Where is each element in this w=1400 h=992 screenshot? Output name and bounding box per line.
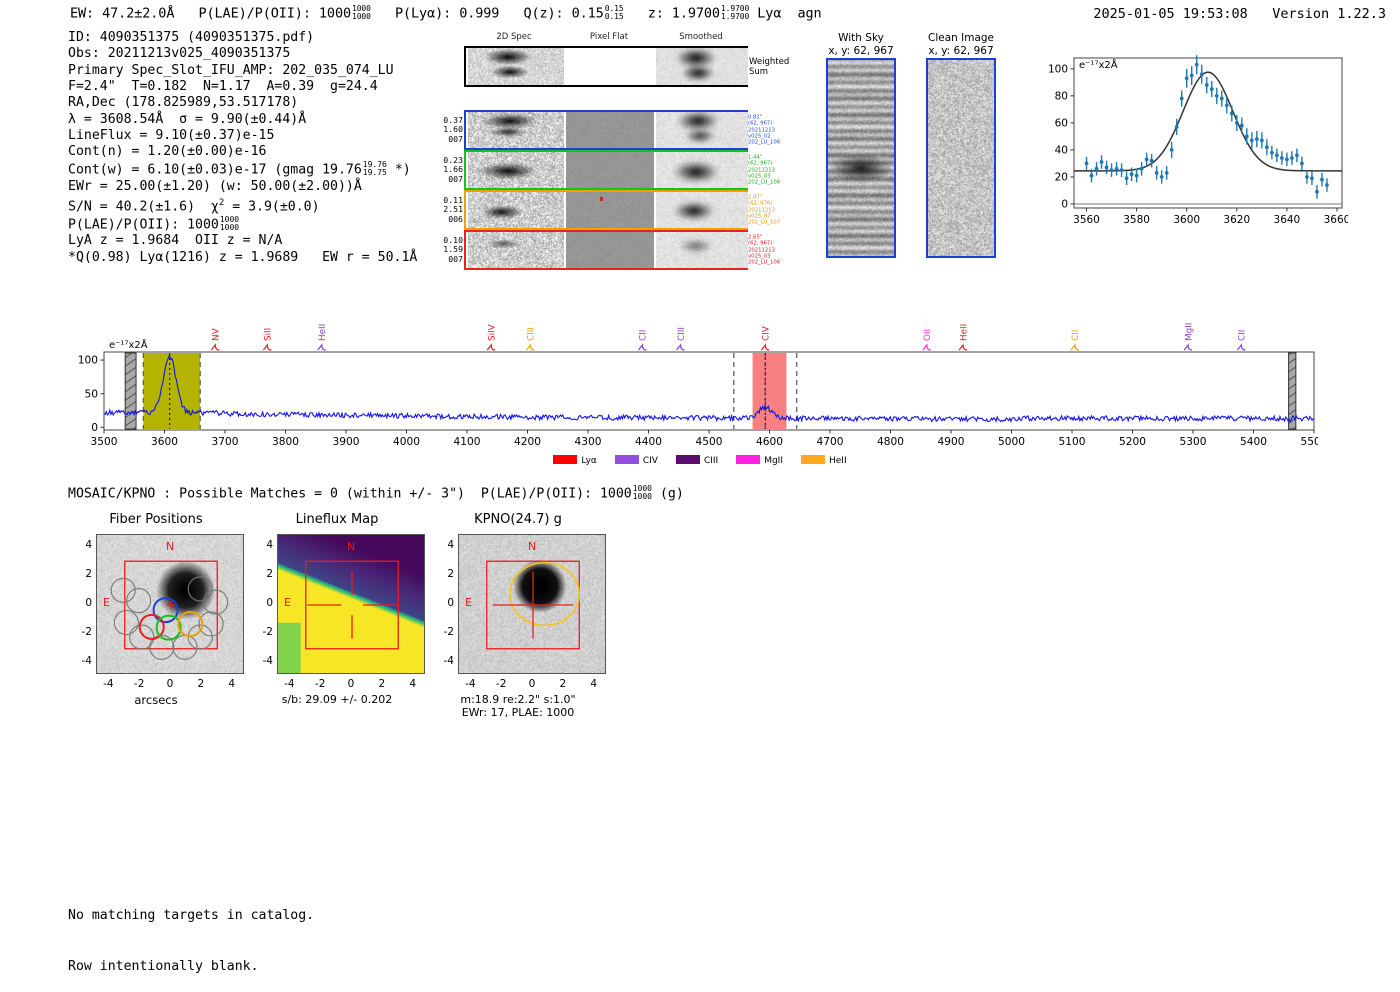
legend-item: HeII [801,455,847,466]
header-ew: EW: 47.2±2.0Å [70,5,174,21]
y-tick: 0 [70,597,92,609]
version-label: Version 1.22.3 [1272,6,1386,22]
emission-line-label: HeII [959,324,969,341]
north-label: N [528,540,536,553]
svg-text:50: 50 [85,388,99,400]
svg-text:4000: 4000 [393,436,420,448]
svg-text:5400: 5400 [1240,436,1267,448]
svg-text:4700: 4700 [817,436,844,448]
fiber-pixelflat [566,152,654,188]
x-tick: -2 [492,678,510,690]
y-tick: 2 [251,568,273,580]
legend-swatch [801,455,825,464]
legend-label: CIII [704,456,718,466]
emission-line-label: CII [1238,330,1248,341]
emission-line-label: SiIV [487,324,497,341]
svg-text:3660: 3660 [1324,214,1348,226]
header-z-tail: Lyα [757,5,781,21]
footer-note: No matching targets in catalog. Row inte… [68,873,314,992]
fiber-smoothed [656,232,748,268]
svg-text:4600: 4600 [756,436,783,448]
east-label: E [284,596,291,609]
mosaic-match-line: MOSAIC/KPNO : Possible Matches = 0 (with… [68,485,684,501]
fiber-row[interactable]: 0.37 1.60 0070.81" (62, 967) 20211213 v0… [464,110,748,150]
info-redshifts: LyA z = 1.9684 OII z = N/A [68,233,417,249]
gmag-range: 19.7619.75 [363,161,387,177]
x-tick: 4 [404,678,422,690]
svg-text:5500: 5500 [1301,436,1318,448]
y-tick: -2 [70,626,92,638]
svg-text:5000: 5000 [998,436,1025,448]
source-info-block: ID: 4090351375 (4090351375.pdf) Obs: 202… [68,30,417,266]
header-timestamp-version: 2025-01-05 19:53:08 Version 1.22.3 [1093,6,1386,22]
cutout-clean-image[interactable] [926,58,996,258]
svg-text:3500: 3500 [91,436,118,448]
svg-text:3700: 3700 [212,436,239,448]
svg-text:4100: 4100 [454,436,481,448]
svg-text:5300: 5300 [1180,436,1207,448]
x-tick: 0 [161,678,179,690]
column-header-pixelflat: Pixel Flat [564,32,654,42]
info-obs: Obs: 20211213v025_4090351375 [68,46,417,62]
y-tick: 0 [432,597,454,609]
x-tick: 4 [223,678,241,690]
info-lambda-sigma: λ = 3608.54Å σ = 9.90(±0.44)Å [68,112,417,128]
emission-line-label: NV [212,328,222,341]
legend-swatch [736,455,760,464]
svg-text:3800: 3800 [272,436,299,448]
info-ewr: EWr = 25.00(±1.20) (w: 50.00(±2.00))Å [68,179,417,195]
svg-text:80: 80 [1055,90,1068,102]
y-tick: -2 [432,626,454,638]
fiber-pixelflat [566,192,654,228]
info-seeing: F=2.4" T=0.182 N=1.17 A=0.39 g=24.4 [68,79,417,95]
emission-line-label: CIV [761,326,771,341]
info-cont-n: Cont(n) = 1.20(±0.00)e-16 [68,144,417,160]
kpno-caption-1: m:18.9 re:2.2" s:1.0" [400,693,636,707]
emission-line-label: CII [1071,330,1081,341]
svg-text:0: 0 [91,422,98,434]
lineflux-image[interactable] [277,534,425,674]
fiber-right-label: 1.44" (62, 967) 20211213 v025_03 202_LU_… [748,154,780,185]
info-plae-range: 10001000 [220,216,239,232]
legend-label: Lyα [581,456,596,466]
y-tick: 2 [70,568,92,580]
spectrum-unit-label: e⁻¹⁷x2Å [109,340,148,351]
legend-item: CIII [676,455,718,466]
y-tick: 4 [251,539,273,551]
header-qz-label: Q(z): 0.15 [523,5,603,21]
east-label: E [103,596,110,609]
header-classification: agn [797,5,821,21]
legend-swatch [553,455,577,464]
svg-text:40: 40 [1055,144,1068,156]
emission-line-label: OII [923,329,933,341]
header-z-label: z: 1.9700 [648,5,720,21]
cutout-with-sky-image[interactable] [826,58,896,258]
x-tick: 4 [585,678,603,690]
legend-swatch [676,455,700,464]
fiber-smoothed [656,152,748,188]
fiber-image[interactable] [96,534,244,674]
weighted-sum-2dspec [468,48,564,85]
svg-text:3560: 3560 [1073,214,1100,226]
pixel-flat-marker [600,197,603,201]
emission-line-label: CII [639,330,649,341]
fiber-2dspec [468,232,564,268]
info-plae: P(LAE)/P(OII): 100010001000 [68,216,417,234]
svg-text:3640: 3640 [1274,214,1301,226]
svg-text:4500: 4500 [696,436,723,448]
header-plya: P(Lyα): 0.999 [395,5,499,21]
north-label: N [166,540,174,553]
line-profile-chart: 356035803600362036403660020406080100e⁻¹⁷… [1034,44,1348,234]
y-tick: -4 [432,655,454,667]
legend-label: CIV [643,456,658,466]
full-spectrum-chart: 3500360037003800390040004100420043004400… [62,316,1318,452]
weighted-sum-row: Weighted Sum [464,46,748,87]
emission-line-label: HeII [318,324,328,341]
east-label: E [465,596,472,609]
svg-text:20: 20 [1055,172,1068,184]
svg-text:4800: 4800 [877,436,904,448]
svg-text:3620: 3620 [1223,214,1250,226]
fiber-row[interactable]: 0.23 1.66 0071.44" (62, 967) 20211213 v0… [464,150,748,190]
fiber-circle-inactive [188,577,212,601]
x-tick: -4 [280,678,298,690]
2d-spectrum-panel: 2D Spec Pixel Flat Smoothed Weighted Sum… [440,32,770,260]
fiber-smoothed [656,192,748,228]
cutout-coords: x, y: 62, 967 [906,45,1016,58]
fiber-left-label: 0.37 1.60 007 [443,116,463,144]
kpno-image[interactable] [458,534,606,674]
cutout-title: Clean Imagex, y: 62, 967 [906,32,1016,57]
svg-text:0: 0 [1061,199,1068,211]
x-tick: -4 [461,678,479,690]
cutout-name: With Sky [806,32,916,45]
x-tick: 0 [342,678,360,690]
lineflux-map-panel: Lineflux MapNE-4-4-2-2002244s/b: 29.09 +… [243,512,431,712]
line-profile-unit-label: e⁻¹⁷x2Å [1079,60,1118,71]
header-z-range: 1.97001.9700 [721,5,749,21]
x-tick: 2 [554,678,572,690]
column-header-smoothed: Smoothed [654,32,748,42]
x-tick: 0 [523,678,541,690]
fiber-2dspec [468,192,564,228]
y-tick: -4 [70,655,92,667]
fiber-circle-inactive [204,590,228,614]
fiber-2dspec [468,152,564,188]
x-tick: -2 [311,678,329,690]
x-tick: -4 [99,678,117,690]
fiber-row[interactable]: 0.10 1.59 0072.65" (62, 967) 20211213 v0… [464,230,748,270]
footer-line-1: No matching targets in catalog. [68,907,314,924]
svg-text:5100: 5100 [1059,436,1086,448]
fiber-circle-inactive [114,610,138,634]
y-tick: 2 [432,568,454,580]
fiber-positions-panel: Fiber PositionsNE-4-4-2-2002244arcsecs [62,512,250,712]
weighted-sum-pixelflat [566,48,654,85]
header-plae-label: P(LAE)/P(OII): 1000 [198,5,351,21]
panel-title: Fiber Positions [62,512,250,527]
emission-line-legend: LyαCIVCIIIMgIIHeII [0,455,1400,466]
y-tick: 4 [70,539,92,551]
legend-item: Lyα [553,455,596,466]
info-lineflux: LineFlux = 9.10(±0.37)e-15 [68,128,417,144]
cutout-coords: x, y: 62, 967 [806,45,916,58]
info-sn-chi2: S/N = 40.2(±1.6) χ2 = 3.9(±0.0) [68,195,417,216]
weighted-sum-label: Weighted Sum [749,57,789,77]
fiber-pixelflat [566,232,654,268]
kpno-caption-2: EWr: 17, PLAE: 1000 [400,706,636,720]
x-tick: -2 [130,678,148,690]
y-tick: 4 [432,539,454,551]
fiber-right-label: 2.65" (62, 967) 20211213 v025_03 202_LU_… [748,234,780,265]
svg-text:3900: 3900 [333,436,360,448]
svg-text:5200: 5200 [1119,436,1146,448]
kpno-image-panel: KPNO(24.7) gNE-4-4-2-2002244m:18.9 re:2.… [424,512,612,712]
info-quality: *Q(0.98) Lyα(1216) z = 1.9689 EW r = 50.… [68,250,417,266]
fiber-smoothed [656,112,748,148]
fiber-2dspec [468,112,564,148]
fiber-circle-active [157,616,181,640]
svg-text:100: 100 [1048,63,1068,75]
lya-band [143,353,200,429]
legend-item: CIV [615,455,658,466]
mosaic-plae-range: 10001000 [633,485,652,501]
header-plae-range: 10001000 [352,5,371,21]
fiber-left-label: 0.10 1.59 007 [443,236,463,264]
fiber-pixelflat [566,112,654,148]
emission-line-label: MgII [1184,323,1194,341]
info-id: ID: 4090351375 (4090351375.pdf) [68,30,417,46]
legend-swatch [615,455,639,464]
y-tick: -4 [251,655,273,667]
column-header-2dspec: 2D Spec [464,32,564,42]
footer-line-2: Row intentionally blank. [68,958,314,975]
info-primary-spec: Primary Spec_Slot_IFU_AMP: 202_035_074_L… [68,63,417,79]
panel-title: Lineflux Map [243,512,431,527]
svg-text:3580: 3580 [1123,214,1150,226]
panel-title: KPNO(24.7) g [424,512,612,527]
legend-label: HeII [829,456,847,466]
fiber-row[interactable]: 0.11 2.51 0062.07" (62, 976) 20211213 v0… [464,190,748,230]
y-tick: 0 [251,597,273,609]
emission-line-label: CIII [677,327,687,341]
svg-text:3600: 3600 [151,436,178,448]
north-label: N [347,540,355,553]
fiber-left-label: 0.11 2.51 006 [443,196,463,224]
header-qz-range: 0.150.15 [605,5,624,21]
emission-line-label: SiII [264,328,274,341]
info-radec: RA,Dec (178.825989,53.517178) [68,95,417,111]
x-tick: 2 [192,678,210,690]
weighted-sum-smoothed [656,48,748,85]
fiber-right-label: 0.81" (62, 967) 20211213 v025_02 202_LU_… [748,114,780,145]
legend-label: MgII [764,456,783,466]
timestamp: 2025-01-05 19:53:08 [1093,6,1247,22]
cutout-title: With Skyx, y: 62, 967 [806,32,916,57]
source-ellipse [510,563,579,626]
svg-text:4300: 4300 [575,436,602,448]
header-summary-line: EW: 47.2±2.0Å P(LAE)/P(OII): 10001000100… [70,5,822,21]
svg-text:3600: 3600 [1173,214,1200,226]
svg-text:100: 100 [78,355,98,367]
legend-item: MgII [736,455,783,466]
cutout-name: Clean Image [906,32,1016,45]
x-tick: 2 [373,678,391,690]
svg-text:60: 60 [1055,117,1068,129]
info-cont-w: Cont(w) = 6.10(±0.03)e-17 (gmag 19.7619.… [68,161,417,179]
fiber-circle-active [154,598,178,622]
fiber-left-label: 0.23 1.66 007 [443,156,463,184]
svg-text:4200: 4200 [514,436,541,448]
emission-line-label: CIII [527,327,537,341]
fiber-right-label: 2.07" (62, 976) 20211213 v025_07 202_LU_… [748,194,780,225]
svg-text:4400: 4400 [635,436,662,448]
y-tick: -2 [251,626,273,638]
svg-text:4900: 4900 [938,436,965,448]
